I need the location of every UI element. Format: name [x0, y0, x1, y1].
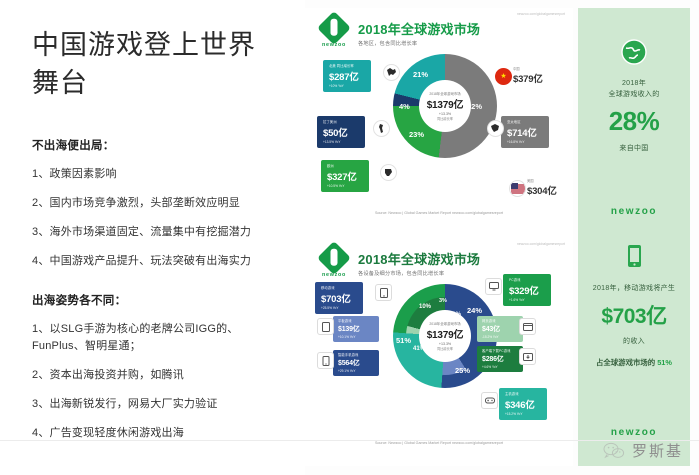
- chart2-tag-tablet: 平板游戏 $139亿 +10.1% YoY: [333, 316, 379, 342]
- chart2-center-label: 2018年全球游戏市场 $1379亿 +13.3% 同比增长率: [419, 310, 471, 362]
- chart2-tag-download-value: $286亿: [482, 354, 518, 364]
- page-root: 中国游戏登上世界舞台 不出海便出局： 1、政策因素影响 2、国内市场竞争激烈，头…: [0, 0, 699, 475]
- stat-card-2-line3: 占全球游戏市场的 51%: [586, 357, 682, 368]
- list-item: 1、以SLG手游为核心的老牌公司IGG的、FunPlus、智明星通；: [32, 321, 283, 355]
- chart1-callout-usa-value: $304亿: [527, 183, 557, 197]
- chart1-callout-china-value: $379亿: [513, 71, 543, 85]
- stat-card-1-value: 28%: [586, 106, 682, 137]
- list-item: 2、国内市场竞争激烈，头部垄断效应明显: [32, 195, 283, 212]
- emea-flag-icon: [380, 164, 397, 181]
- list-item: 1、政策因素影响: [32, 166, 283, 183]
- download-icon: [519, 348, 536, 365]
- chart2-percent-smartphone: 41%: [413, 346, 425, 352]
- stat-card-1-line1: 2018年: [586, 78, 682, 89]
- infographic-panel: newzoo.com/globalgamesreport newzoo 2018…: [305, 8, 573, 466]
- chart1-tag-la-yoy: +13.5% YoY: [323, 140, 359, 144]
- article-section-2: 出海姿势各不同： 1、以SLG手游为核心的老牌公司IGG的、FunPlus、智明…: [32, 292, 283, 442]
- stat-card-2-line2: 的收入: [586, 336, 682, 347]
- chart1-callout-china: 中国 $379亿: [513, 66, 543, 85]
- globe-icon: [620, 38, 648, 66]
- asia-pacific-flag-icon: [487, 120, 504, 137]
- chart2-tag-download: 客户端下载PC游戏 $286亿 +4.6% YoY: [477, 346, 523, 372]
- stat-card-2-line3-highlight: 51%: [657, 358, 672, 367]
- article-column: 中国游戏登上世界舞台 不出海便出局： 1、政策因素影响 2、国内市场竞争激烈，头…: [0, 0, 305, 475]
- chart2-tag-download-yoy: +4.6% YoY: [482, 365, 518, 369]
- chart2-tag-console-value: $346亿: [505, 397, 541, 411]
- chart1-tag-asia-pacific: 亚太地区 $714亿 +16.8% YoY: [501, 116, 549, 148]
- chart2-tag-browser-value: $43亿: [482, 324, 518, 334]
- latin-america-flag-icon: [373, 120, 390, 137]
- chart1-source: Source: Newzoo | Global Games Market Rep…: [305, 211, 573, 216]
- chart2-tag-mobile: 移动游戏 $703亿 +25.5% YoY: [315, 282, 363, 314]
- north-america-flag-icon: [383, 64, 400, 81]
- stat-card-china-share: 2018年 全球游戏收入的 28% 来自中国: [578, 8, 690, 198]
- chart2-subtitle: 各设备及细分市场，包含同比增长率: [358, 270, 480, 277]
- chart1-percent-north-america: 21%: [413, 70, 428, 79]
- desktop-icon: [485, 278, 502, 295]
- chart2-tag-console-caption: 主机游戏: [505, 391, 541, 396]
- chart1-percent-emea: 23%: [409, 130, 424, 139]
- stat-card-2-value: $703亿: [586, 300, 682, 330]
- chart1-tag-la-value: $50亿: [323, 125, 359, 139]
- usa-flag-icon: [509, 180, 526, 197]
- wechat-icon: [603, 442, 625, 460]
- chart1-percent-asia-pacific: 52%: [467, 102, 482, 111]
- chart2-tag-tablet-value: $139亿: [338, 324, 374, 334]
- chart1-tag-emea-value: $327亿: [327, 169, 363, 183]
- chart1-percent-latin-america: 4%: [399, 102, 410, 111]
- chart2-tag-mobile-value: $703亿: [321, 291, 357, 305]
- chart1-tag-north-america: 北美 同比增长率 $287亿 +10% YoY: [323, 60, 371, 92]
- chart2-url-note: newzoo.com/globalgamesreport: [517, 242, 565, 246]
- chart2-tag-pc: PC游戏 $329亿 +1.6% YoY: [503, 274, 551, 306]
- chart1-url-note: newzoo.com/globalgamesreport: [517, 12, 565, 16]
- chart2-tag-smartphone-caption: 智能手机游戏: [338, 352, 374, 357]
- chart1-tag-na-caption: 北美 同比增长率: [329, 63, 365, 68]
- list-item: 3、出海新锐发行，网易大厂实力验证: [32, 396, 283, 413]
- chart2-tag-browser: 网页游戏 $43亿 -15.2% YoY: [477, 316, 523, 342]
- chart1-title: 2018年全球游戏市场: [358, 19, 480, 38]
- chart1-donut: 2018年全球游戏市场 $1379亿 +13.3% 同比增长率 21% 4% 2…: [393, 54, 497, 158]
- chart1-tag-ap-value: $714亿: [507, 125, 543, 139]
- chart1-tag-na-value: $287亿: [329, 69, 365, 83]
- chart2-percent-pc: 24%: [467, 306, 482, 315]
- chart1-callout-usa: 美国 $304亿: [527, 178, 557, 197]
- newzoo-logo-icon: newzoo: [317, 16, 351, 50]
- stat-card-2-line1: 2018年，移动游戏将产生: [586, 283, 682, 294]
- chart2-percent-tablet: 10%: [419, 304, 431, 310]
- sidebar-newzoo-wordmark-1: newzoo: [578, 206, 690, 217]
- section-heading: 不出海便出局：: [32, 137, 283, 153]
- footer-divider: [0, 440, 699, 441]
- chart2-tag-smartphone-value: $564亿: [338, 358, 374, 368]
- chart2-tag-pc-value: $329亿: [509, 283, 545, 297]
- chart2-percent-mobile: 51%: [396, 336, 411, 345]
- mobile-icon: [620, 243, 648, 271]
- chart1-subtitle: 各地区，包含同比增长率: [358, 40, 480, 47]
- smartphone-icon: [317, 352, 334, 369]
- chart2-tag-console: 主机游戏 $346亿 +15.2% YoY: [499, 388, 547, 420]
- article-section-1: 不出海便出局： 1、政策因素影响 2、国内市场竞争激烈，头部垄断效应明显 3、海…: [32, 137, 283, 270]
- sidebar-newzoo-wordmark-2: newzoo: [578, 427, 690, 438]
- mobile-icon: [375, 284, 392, 301]
- chart1-center-label: 2018年全球游戏市场 $1379亿 +13.3% 同比增长率: [419, 80, 471, 132]
- chart2-tag-browser-yoy: -15.2% YoY: [482, 335, 518, 339]
- chart2-tag-mobile-caption: 移动游戏: [321, 285, 357, 290]
- chart1-tag-emea-yoy: +10.5% YoY: [327, 184, 363, 188]
- stat-card-mobile-revenue: 2018年，移动游戏将产生 $703亿 的收入 占全球游戏市场的 51%: [578, 225, 690, 405]
- chart2-percent-download: 21%: [449, 312, 461, 318]
- chart2-tag-pc-caption: PC游戏: [509, 277, 545, 282]
- chart1-tag-emea-caption: 欧洲: [327, 163, 363, 168]
- stat-card-1-line2: 全球游戏收入的: [586, 89, 682, 100]
- list-item: 3、海外市场渠道固定、流量集中有挖掘潜力: [32, 224, 283, 241]
- chart1-tag-na-yoy: +10% YoY: [329, 84, 365, 88]
- chart2-percent-browser: 3%: [439, 298, 447, 304]
- chart1-tag-la-caption: 拉丁美洲: [323, 119, 359, 124]
- page-title: 中国游戏登上世界舞台: [32, 26, 283, 103]
- chart1-center-growth-note: 同比增长率: [437, 116, 453, 121]
- chart2-tag-smartphone: 智能手机游戏 $564亿 +29.1% YoY: [333, 350, 379, 376]
- tablet-icon: [317, 318, 334, 335]
- chart2-percent-console: 25%: [455, 366, 470, 375]
- chart1-tag-emea: 欧洲 $327亿 +10.5% YoY: [321, 160, 369, 192]
- chart2-tag-browser-caption: 网页游戏: [482, 318, 518, 323]
- chart2-tag-tablet-yoy: +10.1% YoY: [338, 335, 374, 339]
- chart2-tag-smartphone-yoy: +29.1% YoY: [338, 369, 374, 373]
- watermark: 罗斯基: [603, 440, 683, 461]
- chart2-tag-download-caption: 客户端下载PC游戏: [482, 348, 518, 353]
- list-item: 4、中国游戏产品提升、玩法突破有出海实力: [32, 253, 283, 270]
- chart2-tag-tablet-caption: 平板游戏: [338, 318, 374, 323]
- stats-sidebar: 2018年 全球游戏收入的 28% 来自中国 newzoo 2018年，移动游戏…: [578, 8, 690, 466]
- chart2-center-growth-note: 同比增长率: [437, 346, 453, 351]
- chart1-center-value: $1379亿: [427, 96, 464, 111]
- chart2-tag-pc-yoy: +1.6% YoY: [509, 298, 545, 302]
- chart2-source: Source: Newzoo | Global Games Market Rep…: [305, 441, 573, 446]
- console-icon: [481, 392, 498, 409]
- china-flag-icon: ★: [495, 68, 512, 85]
- list-item: 2、资本出海投资并购，如腾讯: [32, 367, 283, 384]
- chart2-title: 2018年全球游戏市场: [358, 249, 480, 268]
- chart1-tag-ap-caption: 亚太地区: [507, 119, 543, 124]
- browser-icon: [519, 318, 536, 335]
- chart2-center-value: $1379亿: [427, 326, 464, 341]
- stat-card-2-line3-prefix: 占全球游戏市场的: [596, 358, 657, 367]
- chart2-tag-console-yoy: +15.2% YoY: [505, 412, 541, 416]
- watermark-text: 罗斯基: [632, 440, 683, 461]
- chart2-tag-mobile-yoy: +25.5% YoY: [321, 306, 357, 310]
- chart-global-market-by-region: newzoo.com/globalgamesreport newzoo 2018…: [305, 8, 573, 220]
- section-heading: 出海姿势各不同：: [32, 292, 283, 308]
- chart1-tag-latin-america: 拉丁美洲 $50亿 +13.5% YoY: [317, 116, 365, 148]
- stat-card-1-line3: 来自中国: [586, 143, 682, 154]
- newzoo-logo-icon: newzoo: [317, 246, 351, 280]
- chart1-tag-ap-yoy: +16.8% YoY: [507, 140, 543, 144]
- chart-global-market-by-device: newzoo.com/globalgamesreport newzoo 2018…: [305, 238, 573, 450]
